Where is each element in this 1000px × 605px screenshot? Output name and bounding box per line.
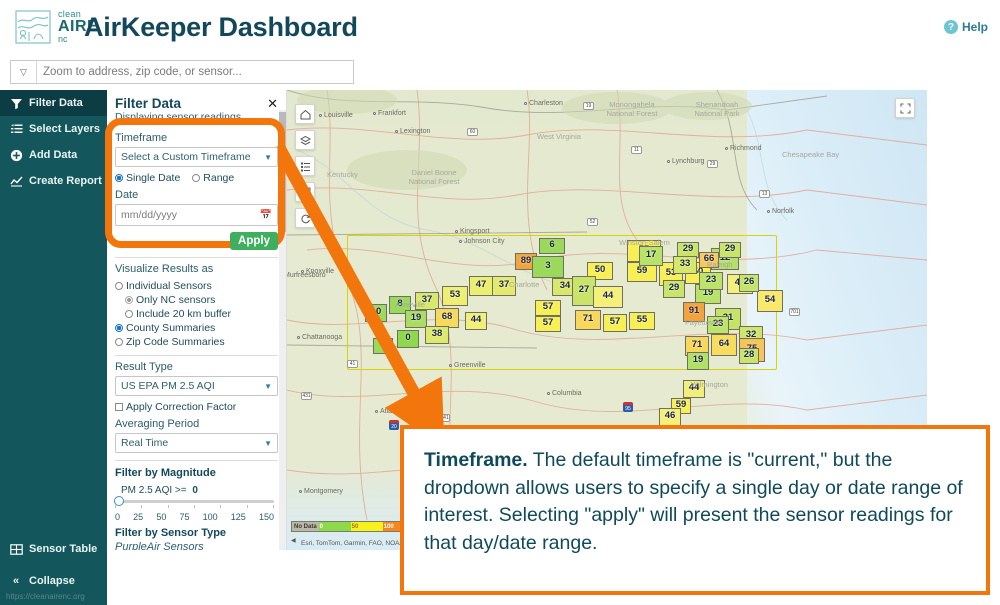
filter-panel-subtitle: Displaying sensor readings [107, 111, 286, 123]
map-region-label: Asheville [395, 300, 425, 309]
map-attribution-text: Esri, TomTom, Garmin, FAO, NOAA [301, 540, 404, 547]
visualize-option-label: Zip Code Summaries [126, 336, 225, 348]
chevron-left-icon[interactable]: ◀ [291, 537, 296, 544]
chevron-down-icon: ▼ [264, 382, 272, 391]
radio-zip-summaries[interactable] [115, 338, 123, 346]
legend-icon[interactable] [295, 156, 315, 176]
sidebar-item-label: Filter Data [29, 97, 83, 109]
map-city-label: Johnson City [459, 238, 504, 245]
site-watermark: https://cleanairenc.org [6, 592, 85, 601]
sidebar-bottom-label: Sensor Table [29, 543, 97, 555]
county-polygon[interactable] [535, 316, 561, 332]
county-polygon[interactable] [719, 242, 741, 258]
timeframe-select-value: Select a Custom Timeframe [121, 151, 251, 163]
map-region-label: Wilmington [691, 380, 728, 389]
highway-shield-icon: 60 [467, 128, 478, 136]
county-polygon[interactable] [532, 256, 564, 278]
visualize-option-only-nc-sensors[interactable]: Only NC sensors [115, 294, 278, 306]
highway-shield-icon: 701 [789, 308, 800, 316]
county-polygon[interactable] [687, 352, 709, 370]
sidebar-item-label: Create Report [29, 175, 102, 187]
map-city-label: Murfreesboro [287, 272, 326, 279]
search-input[interactable] [37, 61, 353, 83]
visualize-option-label: Only NC sensors [136, 294, 215, 306]
interstate-shield-icon: 75 [341, 265, 351, 275]
averaging-period-value: Real Time [121, 437, 168, 449]
correction-factor-row[interactable]: Apply Correction Factor [115, 401, 278, 413]
tick-label: 150 [259, 512, 274, 522]
search-toolbar: ▽ » Go OR ◉ Use My Location Report an Ob… [0, 55, 1000, 90]
county-polygon[interactable] [405, 310, 427, 328]
highway-shield-icon: 52 [587, 218, 598, 226]
funnel-icon [9, 96, 23, 110]
tick-label: 100 [203, 512, 218, 522]
chevron-down-icon: ▼ [264, 153, 272, 162]
sidebar: Filter Data Select Layers [0, 90, 107, 605]
layer-list-icon[interactable] [295, 182, 315, 202]
visualize-option-zip-summaries[interactable]: Zip Code Summaries [115, 336, 278, 348]
highway-shield-icon: 29 [707, 160, 718, 168]
double-chevron-left-icon: « [9, 574, 23, 588]
tick-label: 25 [133, 512, 143, 522]
timeframe-select[interactable]: Select a Custom Timeframe ▼ [115, 147, 278, 167]
visualize-label: Visualize Results as [115, 263, 278, 275]
map-region-label: Shenandoah National Park [682, 100, 752, 118]
county-polygon[interactable] [365, 304, 387, 322]
map-region-label: Kentucky [327, 170, 358, 179]
timeframe-label: Timeframe [115, 132, 278, 144]
sensor-type-first-option: PurpleAir Sensors [115, 541, 278, 550]
county-polygon[interactable] [739, 348, 759, 364]
visualize-option-include-buffer[interactable]: Include 20 km buffer [115, 308, 278, 320]
map-city-label: Atlanta [375, 408, 402, 415]
map-city-label: Norfolk [767, 208, 794, 215]
divider [115, 460, 278, 461]
county-polygon[interactable] [739, 274, 759, 292]
chart-line-icon [9, 174, 23, 188]
sidebar-item-label: Add Data [29, 149, 77, 161]
highway-shield-icon: 441 [439, 414, 450, 422]
layers-list-icon [9, 122, 23, 136]
interstate-shield-icon: 95 [623, 402, 633, 412]
date-placeholder: mm/dd/yyyy [121, 209, 177, 221]
date-input[interactable]: mm/dd/yyyy 📅 [115, 204, 278, 226]
county-polygon[interactable] [575, 310, 601, 330]
county-polygon[interactable] [673, 256, 697, 274]
map-city-label: Greenville [449, 362, 486, 369]
magnitude-slider[interactable] [115, 500, 274, 503]
home-icon[interactable] [295, 104, 315, 124]
sidebar-bottom-label: Collapse [29, 575, 75, 587]
map-city-label: Richmond [725, 145, 762, 152]
county-polygon[interactable] [593, 286, 623, 308]
visualize-option-label: County Summaries [126, 322, 215, 334]
county-polygon[interactable] [535, 300, 561, 316]
map-city-label: Lexington [395, 128, 430, 135]
result-type-label: Result Type [115, 361, 278, 373]
filter-by-sensor-type-heading: Filter by Sensor Type [115, 527, 278, 539]
county-polygon[interactable] [425, 326, 449, 344]
help-link[interactable]: ? Help [944, 20, 988, 34]
sidebar-bottom: Sensor Table « Collapse [0, 533, 107, 597]
correction-factor-checkbox[interactable] [115, 403, 123, 411]
county-polygon[interactable] [699, 272, 723, 290]
county-polygon[interactable] [663, 280, 685, 298]
app-header: clean AIRE nc AirKeeper Dashboard ? Help [0, 0, 1000, 55]
radio-single-date[interactable] [115, 174, 123, 182]
map-region-label: Fayetteville [685, 318, 723, 327]
filter-panel-scrollbar-thumb[interactable] [279, 112, 286, 232]
close-icon[interactable]: ✕ [267, 96, 278, 110]
visualize-option-county-summaries[interactable]: County Summaries [115, 322, 278, 334]
map-attribution: ◀ Esri, TomTom, Garmin, FAO, NOAA [293, 540, 404, 547]
map-region-label: Monongahela National Forest [597, 100, 667, 118]
timeframe-mode-group: Single Date Range [115, 172, 278, 184]
table-icon [9, 542, 23, 556]
callout-lead: Timeframe. [424, 449, 528, 471]
sidebar-item-sensor-table[interactable]: Sensor Table [0, 533, 107, 565]
county-polygon[interactable] [397, 330, 419, 348]
help-label: Help [962, 20, 988, 34]
map-city-label: Columbia [547, 390, 582, 397]
visualize-option-label: Include 20 km buffer [136, 308, 231, 320]
date-label: Date [115, 189, 278, 201]
highway-shield-icon: 41 [347, 360, 358, 368]
county-polygon[interactable] [757, 290, 783, 312]
search-box[interactable]: ▽ [10, 60, 354, 84]
map-region-label: Chesapeake Bay [782, 150, 839, 159]
radio-county-summaries[interactable] [115, 324, 123, 332]
sidebar-item-filter-data[interactable]: Filter Data [0, 90, 107, 116]
tick-label: 50 [156, 512, 166, 522]
result-type-select[interactable]: US EPA PM 2.5 AQI ▼ [115, 376, 278, 396]
county-polygon[interactable] [629, 312, 655, 330]
tick-label: 75 [179, 512, 189, 522]
highway-shield-icon: 13 [759, 190, 770, 198]
magnitude-value: 0 [192, 485, 198, 496]
visualize-option-individual-sensors[interactable]: Individual Sensors [115, 280, 278, 292]
filter-panel-title: Filter Data [115, 96, 181, 111]
sidebar-item-select-layers[interactable]: Select Layers [0, 116, 107, 142]
county-polygon[interactable] [435, 308, 459, 328]
averaging-period-select[interactable]: Real Time ▼ [115, 433, 278, 453]
county-polygon[interactable] [373, 338, 393, 354]
visualize-option-label: Individual Sensors [126, 280, 212, 292]
page-title: AirKeeper Dashboard [84, 12, 358, 43]
map-city-label: Athens [415, 393, 442, 400]
magnitude-value-label: PM 2.5 AQI >= [121, 485, 187, 496]
highway-shield-icon: 431 [301, 392, 312, 400]
magnitude-slider-group: PM 2.5 AQI >= 0 0 25 50 75 100 125 150 [115, 485, 278, 522]
county-polygon[interactable] [465, 312, 487, 330]
county-polygon[interactable] [659, 408, 681, 426]
county-polygon[interactable] [711, 334, 737, 356]
annotation-callout: Timeframe. The default timeframe is "cur… [400, 425, 990, 595]
magnitude-value-row: PM 2.5 AQI >= 0 [115, 485, 274, 496]
legend-break-label: 50 [351, 522, 383, 531]
map-region-label: Raleigh [707, 260, 732, 269]
radio-range[interactable] [192, 174, 200, 182]
map-region-label: Daniel Boone National Forest [399, 168, 469, 186]
timeframe-group: Timeframe Select a Custom Timeframe ▼ Si… [115, 132, 278, 250]
sidebar-item-create-report[interactable]: Create Report [0, 168, 107, 194]
legend-nodata-label: No Data [292, 522, 319, 531]
divider [115, 257, 278, 258]
callout-text: Timeframe. The default timeframe is "cur… [404, 429, 986, 558]
map-city-label: Louisville [319, 112, 353, 119]
map-region-label: Winston-Salem [619, 238, 670, 247]
sidebar-item-add-data[interactable]: Add Data [0, 142, 107, 168]
highway-shield-icon: 11 [631, 146, 642, 154]
magnitude-ticks: 0 25 50 75 100 125 150 [115, 512, 274, 522]
county-polygon[interactable] [539, 238, 565, 254]
filter-data-panel: Filter Data ✕ Displaying sensor readings… [107, 90, 287, 550]
radio-individual-sensors[interactable] [115, 282, 123, 290]
map-city-label: Chattanooga [297, 334, 342, 341]
range-label: Range [203, 172, 234, 184]
divider [115, 355, 278, 356]
magnitude-slider-handle[interactable] [114, 496, 124, 506]
correction-factor-label: Apply Correction Factor [126, 401, 236, 413]
interstate-shield-icon: 20 [389, 420, 399, 430]
cleanaire-logo-icon [14, 8, 52, 46]
sidebar-item-label: Select Layers [29, 123, 100, 135]
map-city-label: Montgomery [299, 488, 343, 495]
magnitude-tick-marks [115, 505, 274, 508]
apply-button[interactable]: Apply [230, 232, 278, 250]
expand-icon[interactable] [895, 98, 915, 118]
single-date-label: Single Date [126, 172, 180, 184]
calendar-icon[interactable]: 📅 [260, 210, 272, 221]
map-city-label: Charleston [524, 100, 563, 107]
help-icon: ? [944, 20, 958, 34]
chevron-down-icon[interactable]: ▽ [11, 61, 37, 83]
plus-circle-icon [9, 148, 23, 162]
refresh-icon[interactable] [295, 208, 315, 228]
averaging-period-label: Averaging Period [115, 418, 278, 430]
tick-label: 125 [231, 512, 246, 522]
legend-break-label: 0 [319, 522, 351, 531]
highway-shield-icon: 19 [583, 102, 594, 110]
chevron-down-icon: ▼ [264, 439, 272, 448]
radio-only-nc-sensors[interactable] [125, 296, 133, 304]
map-city-label: Kingsport [455, 228, 490, 235]
map-region-label: West Virginia [537, 132, 581, 141]
radio-include-buffer[interactable] [125, 310, 133, 318]
map-region-label: Charlotte [509, 280, 539, 289]
county-polygon[interactable] [469, 276, 493, 296]
basemap-gallery-icon[interactable] [295, 130, 315, 150]
result-type-value: US EPA PM 2.5 AQI [121, 380, 215, 392]
county-polygon[interactable] [442, 286, 468, 306]
tick-label: 0 [115, 512, 120, 522]
county-polygon[interactable] [639, 246, 663, 266]
map-city-label: Lynchburg [667, 158, 704, 165]
county-polygon[interactable] [603, 314, 627, 332]
filter-by-magnitude-heading: Filter by Magnitude [115, 467, 278, 479]
filter-panel-header: Filter Data ✕ [107, 90, 286, 111]
map-city-label: Frankfort [373, 110, 406, 117]
